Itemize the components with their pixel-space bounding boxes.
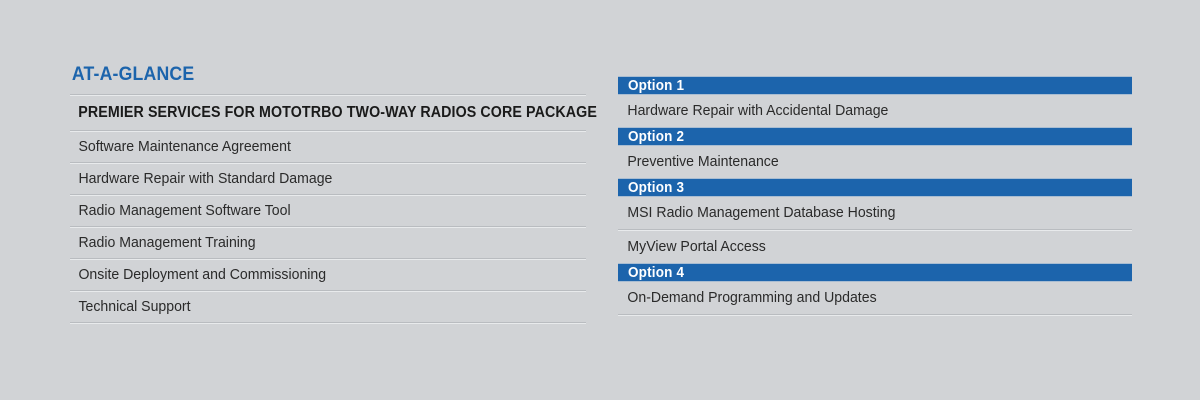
option-header-bar: Option 4 — [618, 263, 1132, 282]
list-item: Onsite Deployment and Commissioning — [70, 260, 555, 290]
option-header-bar: Option 1 — [618, 76, 1132, 95]
list-item: Hardware Repair with Accidental Damage — [618, 95, 1101, 127]
list-item: MSI Radio Management Database Hosting — [618, 197, 1101, 229]
list-item: On-Demand Programming and Updates — [618, 282, 1101, 314]
list-item: Hardware Repair with Standard Damage — [70, 164, 555, 194]
at-a-glance-panel: AT-A-GLANCE PREMIER SERVICES FOR MOTOTRB… — [0, 0, 1200, 400]
option-header-bar: Option 2 — [618, 127, 1132, 146]
list-item: MyView Portal Access — [618, 231, 1101, 263]
option-header-label: Option 1 — [628, 77, 684, 96]
options-column: Option 1 Hardware Repair with Accidental… — [618, 76, 1132, 316]
list-item: Software Maintenance Agreement — [70, 132, 555, 162]
list-item: Technical Support — [70, 292, 555, 322]
core-package-header: PREMIER SERVICES FOR MOTOTRBO TWO-WAY RA… — [70, 96, 545, 130]
option-header-bar: Option 3 — [618, 178, 1132, 197]
option-header-label: Option 2 — [628, 128, 684, 147]
option-header-label: Option 4 — [628, 264, 684, 283]
list-item: Preventive Maintenance — [618, 146, 1101, 178]
divider — [70, 322, 586, 324]
divider — [618, 314, 1132, 316]
option-header-label: Option 3 — [628, 179, 684, 198]
at-a-glance-eyebrow: AT-A-GLANCE — [70, 62, 550, 88]
list-item: Radio Management Training — [70, 228, 555, 258]
list-item: Radio Management Software Tool — [70, 196, 555, 226]
core-package-column: AT-A-GLANCE PREMIER SERVICES FOR MOTOTRB… — [70, 62, 586, 324]
